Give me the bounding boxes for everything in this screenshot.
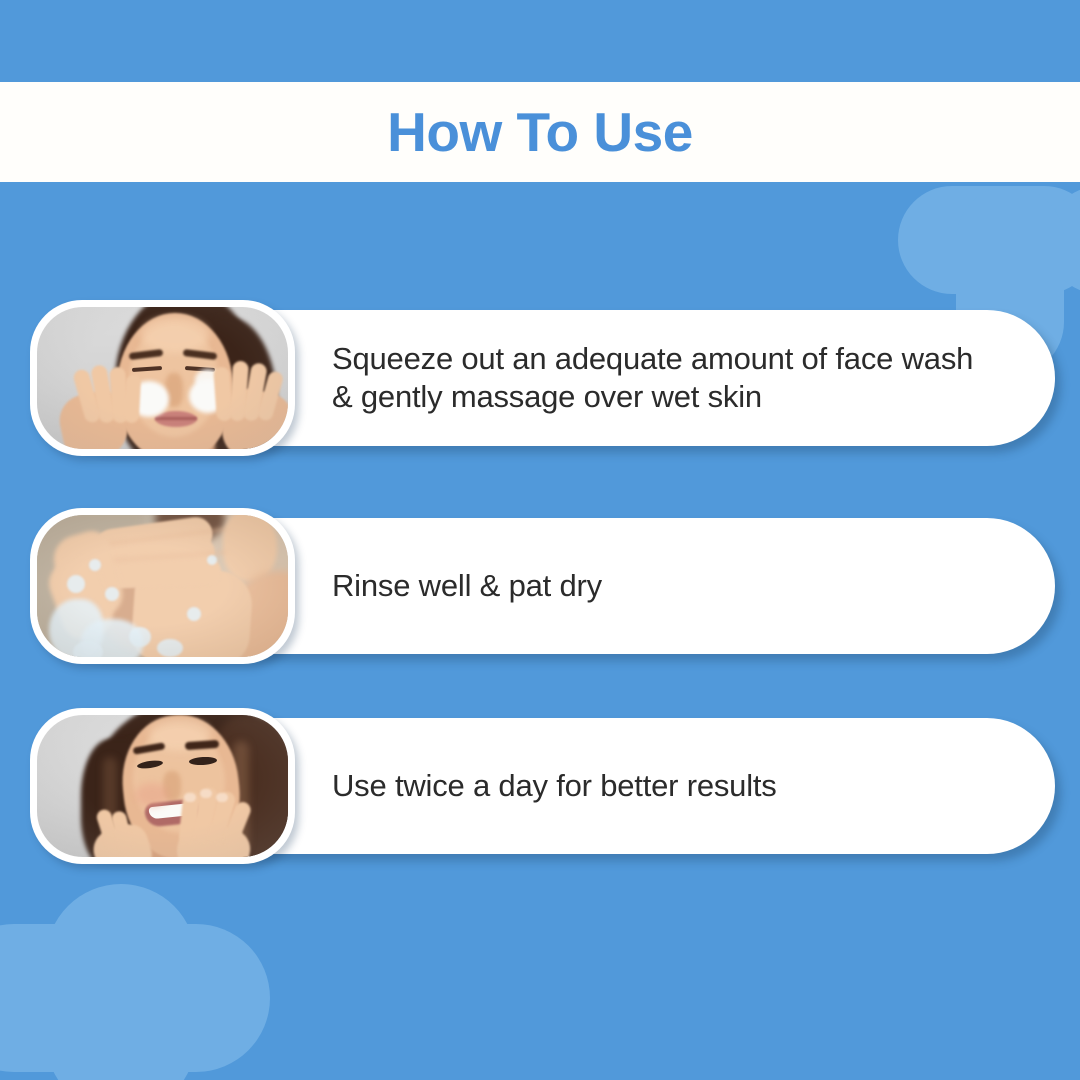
- woman-applying-face-wash-foam-photo: [30, 300, 295, 456]
- step-text: Rinse well & pat dry: [332, 518, 995, 654]
- header-band: How To Use: [0, 82, 1080, 182]
- photo-frame: [37, 515, 288, 657]
- photo-frame: [37, 715, 288, 857]
- page-title: How To Use: [387, 105, 693, 160]
- list-item[interactable]: Squeeze out an adequate amount of face w…: [40, 310, 1055, 446]
- smiling-woman-touching-cheek-photo: [30, 708, 295, 864]
- list-item[interactable]: Use twice a day for better results: [40, 718, 1055, 854]
- list-item[interactable]: Rinse well & pat dry: [40, 518, 1055, 654]
- photo-frame: [37, 307, 288, 449]
- how-to-use-poster: How To Use: [0, 0, 1080, 1080]
- step-text: Use twice a day for better results: [332, 718, 995, 854]
- hands-rinsing-face-with-water-photo: [30, 508, 295, 664]
- step-text: Squeeze out an adequate amount of face w…: [332, 310, 995, 446]
